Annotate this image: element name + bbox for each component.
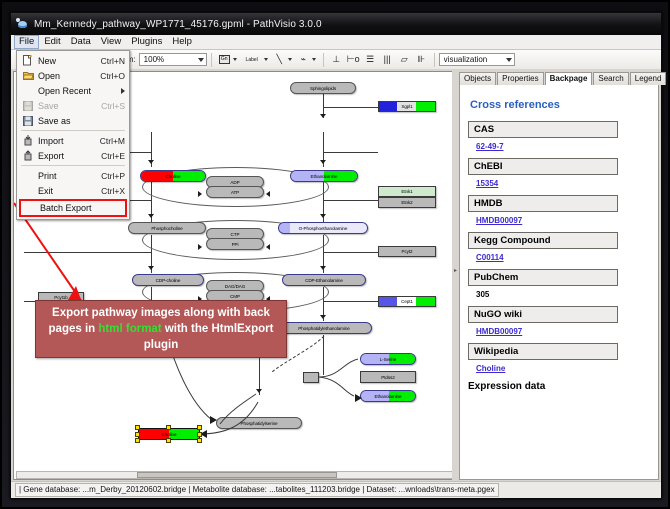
side-panel-tabs[interactable]: Objects Properties Backpage Search Legen… [459,71,659,86]
menu-item-new[interactable]: New Ctrl+N [17,53,129,68]
status-text: | Gene database: ...m_Derby_20120602.bri… [15,483,499,497]
pathvisio-icon [16,18,29,31]
node-ptdss2[interactable]: Ptdss2 [360,371,416,383]
selection-handle[interactable] [197,438,202,443]
menu-file[interactable]: File [14,35,39,49]
xref-link[interactable]: C00114 [476,253,504,262]
xref-header: NuGO wiki [468,306,618,323]
node-ethanolamine-top[interactable]: Ethanolamine [290,170,358,182]
scrollbar-thumb[interactable] [137,472,337,478]
canvas-horizontal-scrollbar[interactable] [16,471,453,479]
tab-properties[interactable]: Properties [497,72,543,85]
node-o-phosphoethanolamine[interactable]: O-Phosphoethanolamine [278,222,368,234]
line-icon[interactable]: ╲ [272,52,287,67]
side-panel[interactable]: Objects Properties Backpage Search Legen… [459,71,659,480]
common-width-icon[interactable]: ⊪ [414,52,429,67]
menu-item-save-as[interactable]: Save as [17,113,129,128]
menu-item-accel: Ctrl+X [101,186,125,196]
node-atp[interactable]: ATP [206,186,264,198]
menu-item-label: Batch Export [40,203,123,213]
node-phosphocholine[interactable]: Phosphocholine [128,222,206,234]
menu-item-label: Import [38,136,94,146]
menu-item-label: Export [38,151,95,161]
xref-link[interactable]: Choline [476,364,505,373]
line-dropdown-icon[interactable] [288,58,292,61]
xref-header: Kegg Compound [468,232,618,249]
pane-splitter[interactable]: ▸ [452,71,459,480]
xref-link[interactable]: 62-49-7 [476,142,504,151]
chevron-right-icon [121,88,125,94]
menu-view[interactable]: View [96,35,126,49]
menu-item-accel: Ctrl+S [101,101,125,111]
xref-value[interactable]: 15354 [476,179,650,188]
toolbar-separator [323,53,324,67]
xref-value[interactable]: HMDB00097 [476,327,650,336]
node-ethanolamine-right[interactable]: Ethanolamine [360,390,416,402]
save-as-disk-icon [21,115,35,127]
xref-value[interactable]: Choline [476,364,650,373]
toolbar-separator [434,53,435,67]
node-cdp-ethanolamine[interactable]: CDP-Ethanolamine [282,274,366,286]
menu-item-label: Open [38,71,94,81]
visualization-value: visualization [444,55,488,64]
node-cdp-choline[interactable]: CDP-choline [132,274,204,286]
new-file-icon [21,55,35,67]
selection-handle[interactable] [135,425,140,430]
menu-help[interactable]: Help [167,35,197,49]
selection-handle[interactable] [197,432,202,437]
import-icon [21,135,35,147]
splitter-grip-icon[interactable]: ▸ [453,267,458,276]
menu-item-batch-export[interactable]: Batch Export [19,199,127,217]
node-pcyt2-top[interactable]: Pcyt2 [378,246,436,257]
menu-item-label: Save as [38,116,119,126]
title-bar: Mm_Kennedy_pathway_WP1771_45176.gpml - P… [11,13,661,36]
zoom-value: 100% [144,55,164,64]
menu-item-accel: Ctrl+O [100,71,125,81]
xref-group-nugo-wiki: NuGO wiki HMDB00097 [468,306,650,336]
xref-value[interactable]: 62-49-7 [476,142,650,151]
selection-handle[interactable] [197,425,202,430]
file-menu-dropdown[interactable]: New Ctrl+N Open Ctrl+O Open Recent Save … [16,50,130,220]
node-choline-top[interactable]: Choline [140,170,206,182]
geneproduct-icon[interactable]: Gn [217,52,232,67]
save-disk-icon [21,100,35,112]
menu-item-accel: Ctrl+P [101,171,125,181]
xref-link[interactable]: HMDB00097 [476,327,522,336]
menu-item-label: New [38,56,95,66]
xref-header: CAS [468,121,618,138]
xref-header: ChEBI [468,158,618,175]
menu-item-open-recent[interactable]: Open Recent [17,83,129,98]
menu-item-exit[interactable]: Exit Ctrl+X [17,183,129,198]
window-title: Mm_Kennedy_pathway_WP1771_45176.gpml - P… [34,19,322,30]
menu-item-label: Save [38,101,95,111]
blank-icon [21,170,35,182]
geneproduct-dropdown-icon[interactable] [233,58,237,61]
tab-search[interactable]: Search [593,72,628,85]
align-rows-icon[interactable]: ☰ [363,52,378,67]
node-ppi[interactable]: PPi [206,238,264,250]
chevron-down-icon [506,58,512,62]
visualization-combo[interactable]: visualization [439,53,515,66]
xref-group-kegg-compound: Kegg Compound C00114 [468,232,650,262]
status-bar: | Gene database: ...m_Derby_20120602.bri… [11,481,661,498]
toolbar-separator [211,53,212,67]
node-phosphatidylserine[interactable]: Phosphatidylserine [216,417,302,429]
menu-item-accel: Ctrl+N [101,56,125,66]
xref-group-chebi: ChEBI 15354 [468,158,650,188]
align-columns-icon[interactable]: ||| [380,52,395,67]
menu-item-accel: Ctrl+M [100,136,125,146]
menu-plugins[interactable]: Plugins [126,35,167,49]
node-anchor-block[interactable] [303,372,319,383]
node-sphingolipids[interactable]: Sphingolipids [290,82,356,94]
xref-group-hmdb: HMDB HMDB00097 [468,195,650,225]
selection-handle[interactable] [166,438,171,443]
node-etnk2[interactable]: Etnk2 [378,197,436,208]
backpage-panel: Cross references CAS 62-49-7 ChEBI 15354… [459,85,659,480]
anchor-icon[interactable]: ⊥ [329,52,344,67]
menu-edit[interactable]: Edit [39,35,65,49]
menu-item-print[interactable]: Print Ctrl+P [17,168,129,183]
tab-backpage[interactable]: Backpage [545,72,593,86]
chevron-down-icon [198,58,204,62]
node-phosphatidylethanolamine[interactable]: Phosphatidylethanolamine [276,322,372,334]
zoom-combo[interactable]: 100% [139,53,207,66]
blank-icon [21,85,35,97]
annotation-text-part2: with the HtmlExport plugin [144,323,274,351]
xref-header: Wikipedia [468,343,618,360]
align-left-icon[interactable]: ⊢o [346,52,361,67]
interaction-icon[interactable]: ⌁ [296,52,311,67]
menu-item-accel: Ctrl+E [101,151,125,161]
xref-group-cas: CAS 62-49-7 [468,121,650,151]
annotation-text: Export pathway images along with back pa… [36,305,286,353]
menu-item-open[interactable]: Open Ctrl+O [17,68,129,83]
menu-bar[interactable]: File Edit Data View Plugins Help [11,35,661,50]
selection-handle[interactable] [135,432,140,437]
menu-item-save: Save Ctrl+S [17,98,129,113]
tab-legend[interactable]: Legend [630,72,667,85]
menu-item-import[interactable]: Import Ctrl+M [17,133,129,148]
menu-item-export[interactable]: Export Ctrl+E [17,148,129,163]
screenshot-frame: Mm_Kennedy_pathway_WP1771_45176.gpml - P… [0,0,670,509]
expression-data-heading: Expression data [468,381,650,392]
xref-link[interactable]: 15354 [476,179,498,188]
xref-link[interactable]: HMDB00097 [476,216,522,225]
annotation-callout: Export pathway images along with back pa… [35,300,287,358]
menu-item-label: Exit [38,186,95,196]
menu-separator [21,165,125,166]
menu-separator [21,130,125,131]
xref-value[interactable]: C00114 [476,253,650,262]
pathvisio-window: Mm_Kennedy_pathway_WP1771_45176.gpml - P… [10,12,662,499]
interaction-dropdown-icon[interactable] [312,58,316,61]
open-folder-icon [21,70,35,82]
menu-item-label: Print [38,171,95,181]
tab-objects[interactable]: Objects [459,72,496,85]
label-button[interactable]: Label [241,52,263,67]
node-l-serine[interactable]: L-Serine [360,353,416,365]
export-icon [21,150,35,162]
label-dropdown-icon[interactable] [264,58,268,61]
selection-handle[interactable] [166,425,171,430]
xref-header: PubChem [468,269,618,286]
cross-references-title: Cross references [470,99,650,111]
xref-group-pubchem: PubChem 305 [468,269,650,299]
xref-value: 305 [476,290,650,299]
annotation-highlight: html format [98,323,161,335]
blank-icon [21,185,35,197]
xref-header: HMDB [468,195,618,212]
node-cept1[interactable]: Cept1 [378,296,436,307]
node-etnk1[interactable]: Etnk1 [378,186,436,197]
selection-handle[interactable] [135,438,140,443]
xref-value[interactable]: HMDB00097 [476,216,650,225]
desktop-background: Mm_Kennedy_pathway_WP1771_45176.gpml - P… [2,2,668,507]
stack-icon[interactable]: ▱ [397,52,412,67]
menu-data[interactable]: Data [66,35,96,49]
blank-icon [23,202,37,214]
node-sgpl1[interactable]: Sgpl1 [378,101,436,112]
xref-group-wikipedia: Wikipedia Choline [468,343,650,373]
menu-item-label: Open Recent [38,86,117,96]
